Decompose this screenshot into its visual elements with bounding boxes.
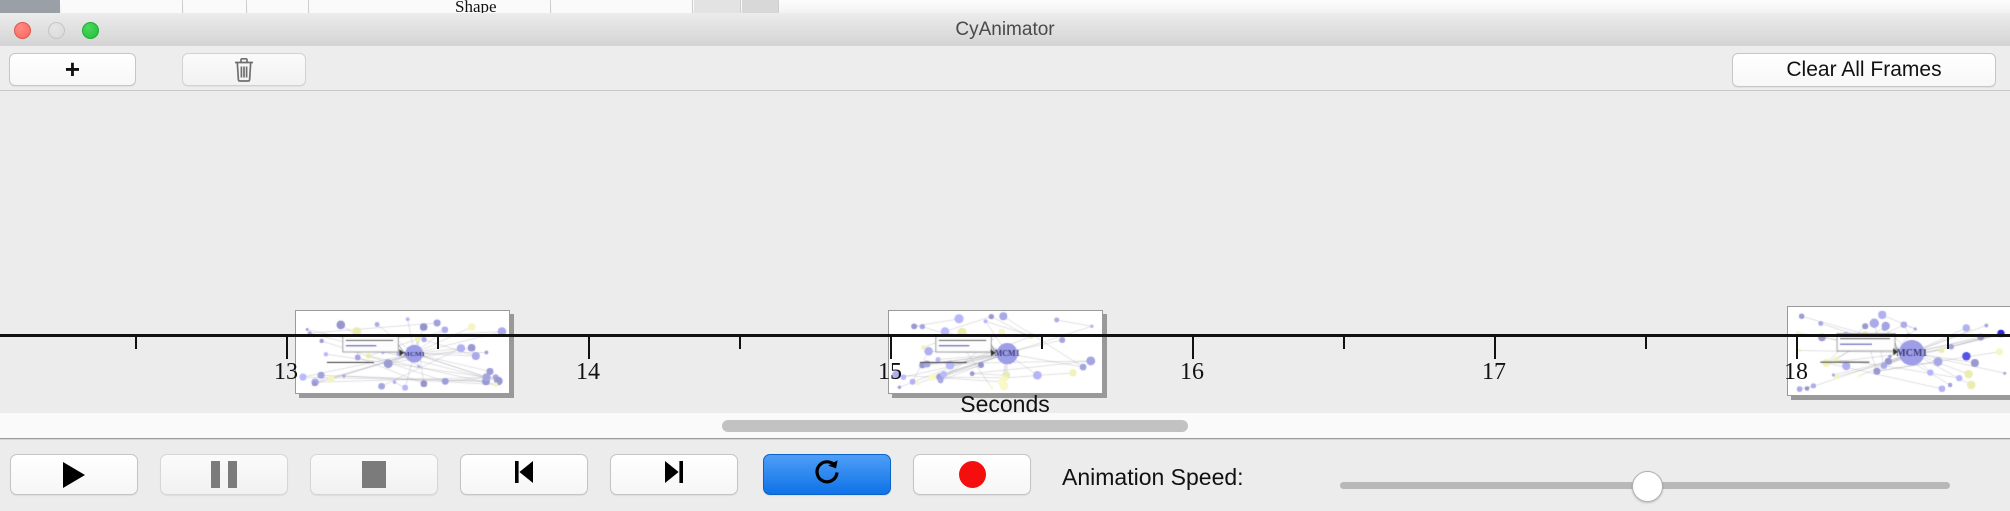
background-tab [742, 0, 779, 13]
background-tab [184, 0, 247, 13]
background-shape-label: Shape [455, 0, 497, 14]
playback-control-bar: Animation Speed: [0, 439, 2010, 511]
timeline-panel[interactable]: 2131415161718 Seconds [0, 91, 2010, 414]
axis-title: Seconds [0, 391, 2010, 414]
add-frame-button[interactable]: + [9, 53, 136, 86]
play-icon [63, 462, 85, 488]
record-circle-icon [959, 461, 986, 488]
axis-tick-major [1192, 337, 1194, 359]
frame-thumbnail-2[interactable] [888, 310, 1103, 394]
axis-tick-minor [1947, 337, 1949, 349]
scrollbar-thumb[interactable] [722, 420, 1188, 432]
frame-thumbnail-1[interactable] [295, 310, 510, 394]
stop-button[interactable] [310, 454, 438, 495]
axis-tick-minor [437, 337, 439, 349]
axis-tick-major [890, 337, 892, 359]
axis-tick-label: 17 [1482, 359, 1506, 386]
next-frame-button[interactable] [610, 454, 738, 495]
previous-frame-button[interactable] [460, 454, 588, 495]
pause-button[interactable] [160, 454, 288, 495]
background-tab [62, 0, 183, 13]
axis-tick-minor [1645, 337, 1647, 349]
background-tab [694, 0, 741, 13]
record-button[interactable] [913, 454, 1031, 495]
title-bar: CyAnimator [0, 13, 2010, 47]
axis-tick-major [588, 337, 590, 359]
skip-back-icon [511, 458, 537, 491]
background-selected-tab [0, 0, 60, 13]
pause-icon [211, 461, 237, 488]
axis-tick-minor [135, 337, 137, 349]
axis-tick-label: 16 [1180, 359, 1204, 386]
play-button[interactable] [10, 454, 138, 495]
axis-tick-major [1494, 337, 1496, 359]
axis-tick-minor [1041, 337, 1043, 349]
network-graph-thumbnail [889, 311, 1102, 393]
cyanimator-window: Shape CyAnimator + Clear All Frames [0, 0, 2010, 510]
skip-forward-icon [661, 458, 687, 491]
axis-tick-minor [1343, 337, 1345, 349]
network-graph-thumbnail [1788, 307, 2010, 395]
clear-all-frames-label: Clear All Frames [1786, 58, 1941, 82]
network-graph-thumbnail [296, 311, 509, 393]
background-tab [310, 0, 551, 13]
axis-tick-label: 13 [274, 359, 298, 386]
trash-icon [233, 57, 255, 83]
frame-thumbnail-3[interactable] [1787, 306, 2010, 396]
background-window-strip: Shape [0, 0, 2010, 14]
animation-speed-label: Animation Speed: [1062, 464, 1244, 491]
plus-icon: + [65, 56, 80, 82]
axis-tick-label: 18 [1784, 359, 1808, 386]
timeline-scrollbar[interactable] [0, 413, 2010, 439]
timeline-axis [0, 334, 2010, 337]
background-tab [552, 0, 693, 13]
background-tab [248, 0, 309, 13]
axis-tick-major [1796, 337, 1798, 359]
frame-toolbar: + Clear All Frames [0, 46, 2010, 91]
loop-button[interactable] [763, 454, 891, 495]
axis-tick-major [286, 337, 288, 359]
axis-tick-label: 15 [878, 359, 902, 386]
axis-tick-minor [739, 337, 741, 349]
delete-frame-button[interactable] [182, 53, 306, 86]
refresh-loop-icon [812, 457, 842, 492]
animation-speed-thumb[interactable] [1632, 471, 1663, 502]
clear-all-frames-button[interactable]: Clear All Frames [1732, 53, 1996, 87]
stop-icon [362, 461, 386, 488]
axis-tick-label: 14 [576, 359, 600, 386]
window-title: CyAnimator [0, 13, 2010, 46]
